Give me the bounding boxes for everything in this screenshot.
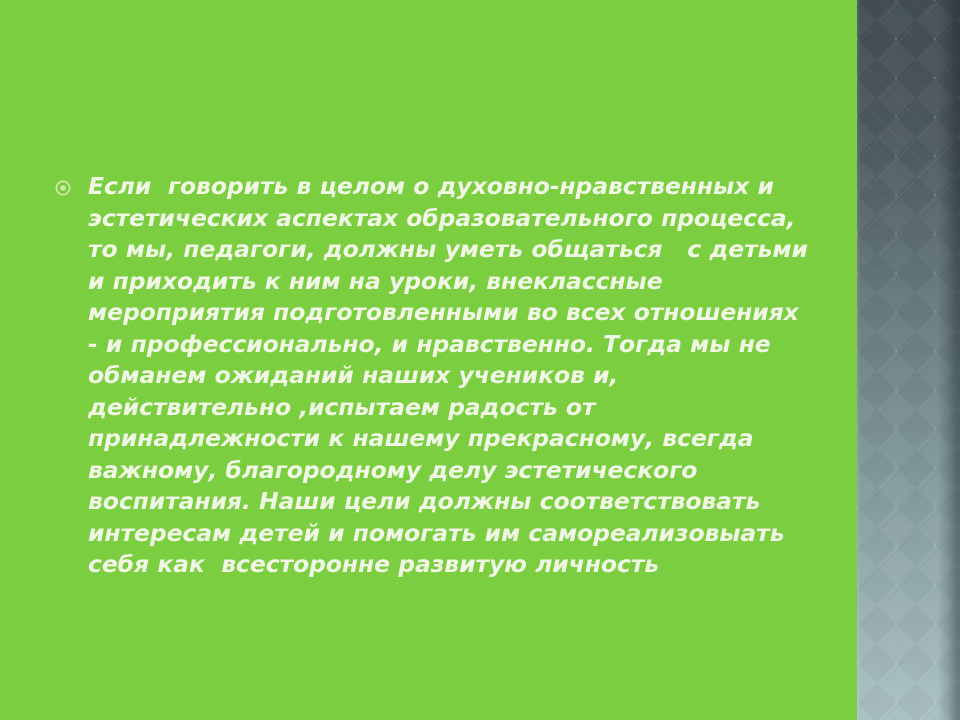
presentation-slide: Если говорить в целом о духовно-нравстве… bbox=[0, 0, 960, 720]
slide-body-content: Если говорить в целом о духовно-нравстве… bbox=[55, 171, 815, 581]
panel-left-seam bbox=[857, 0, 860, 720]
panel-lattice-lines bbox=[857, 0, 960, 720]
panel-diamond-pattern bbox=[857, 0, 960, 720]
slide-paragraph-text: Если говорить в целом о духовно-нравстве… bbox=[88, 171, 815, 581]
target-bullet-icon bbox=[55, 171, 88, 196]
bullet-list-item: Если говорить в целом о духовно-нравстве… bbox=[55, 171, 815, 581]
panel-edge-shadow bbox=[938, 0, 960, 720]
panel-sparkle-accents bbox=[857, 0, 960, 720]
decorative-side-panel bbox=[857, 0, 960, 720]
